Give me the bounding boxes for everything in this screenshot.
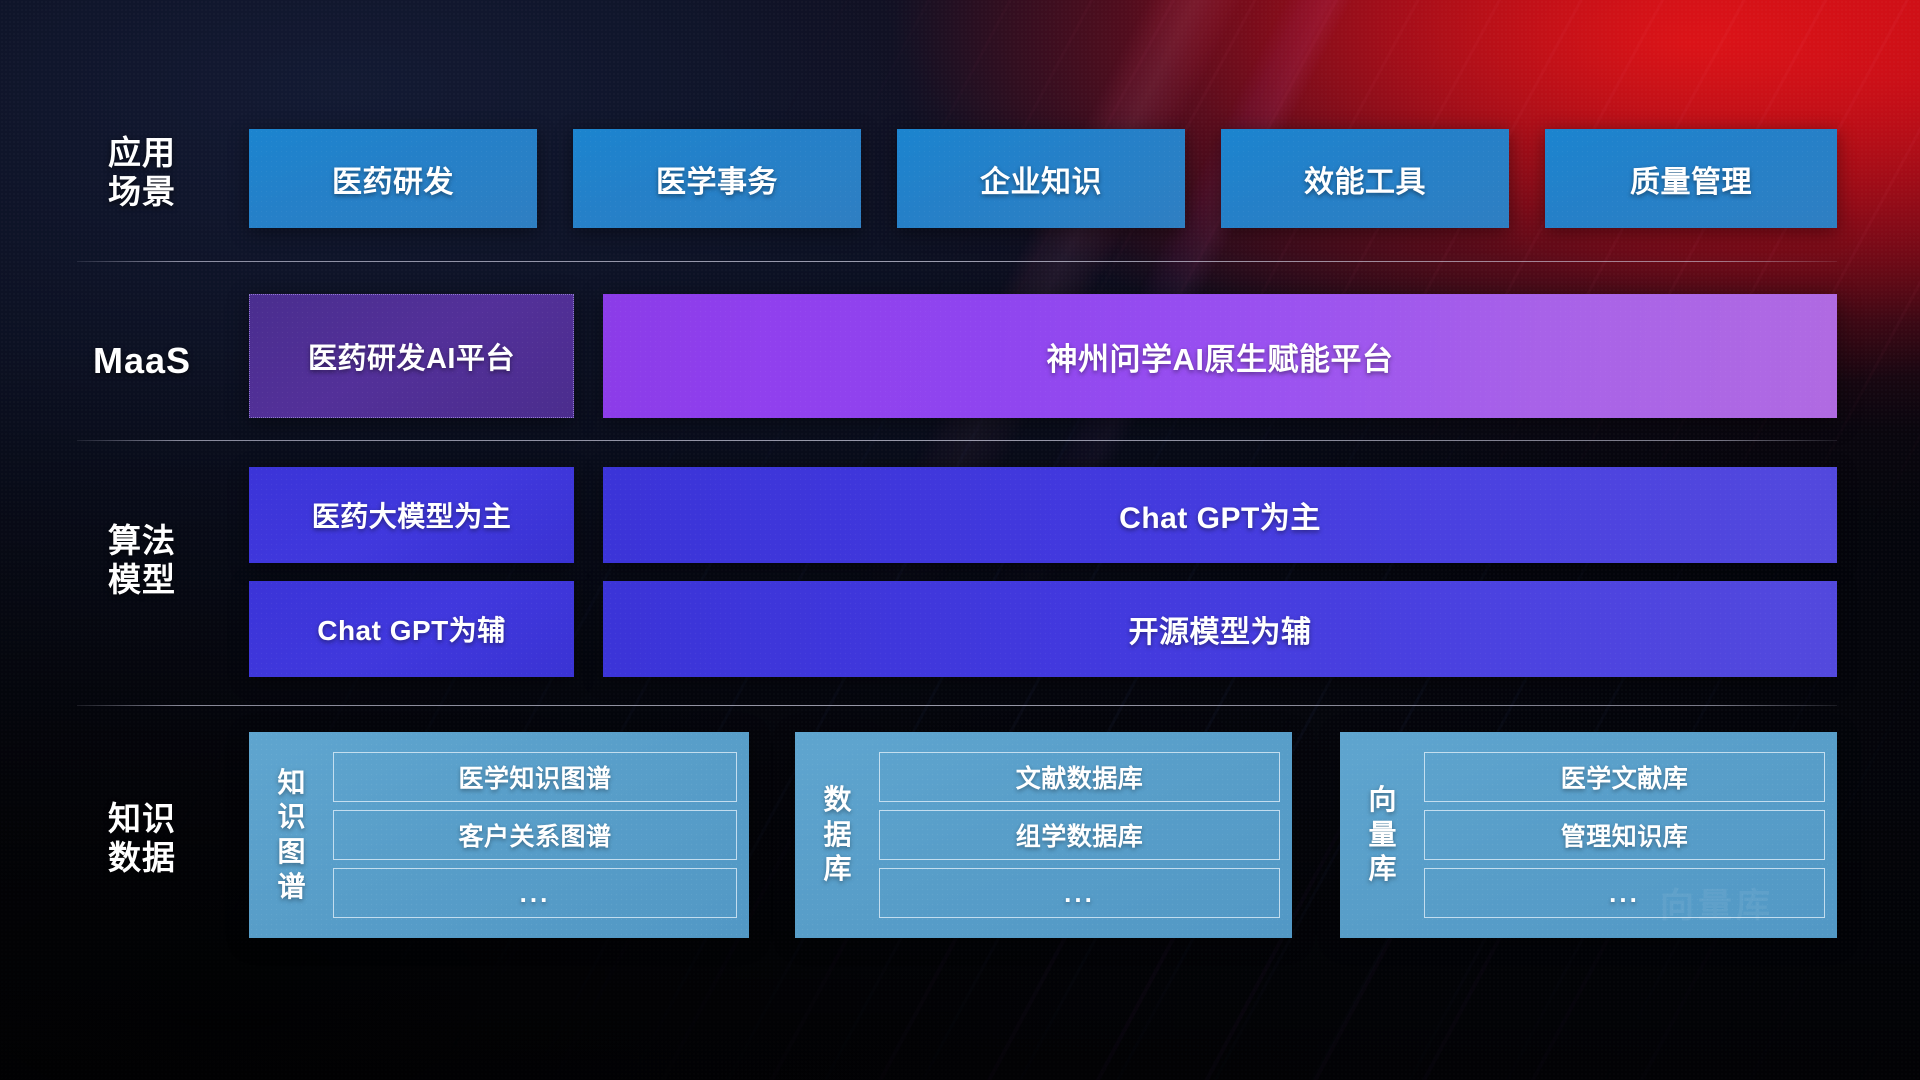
knowledge-item-graph-2-label: 客户关系图谱 <box>458 817 611 853</box>
algo-card-pharma-model-primary[interactable]: 医药大模型为主 <box>249 467 574 563</box>
knowledge-item-vector-2[interactable]: 管理知识库 <box>1424 810 1825 860</box>
algo-card-opensource-secondary[interactable]: 开源模型为辅 <box>603 581 1837 677</box>
app-card-4-label: 效能工具 <box>1304 157 1426 201</box>
knowledge-item-graph-2[interactable]: 客户关系图谱 <box>333 810 737 860</box>
algo-card-chatgpt-primary-label: Chat GPT为主 <box>1119 493 1321 537</box>
knowledge-item-vector-3[interactable]: ... <box>1424 868 1825 918</box>
row-label-knowledge: 知识 数据 <box>77 800 207 878</box>
knowledge-group-database-label: 数 据 库 <box>809 783 867 887</box>
knowledge-item-database-3-label: ... <box>1064 878 1095 909</box>
app-card-1[interactable]: 医药研发 <box>249 129 537 228</box>
knowledge-item-vector-3-label: ... <box>1609 878 1640 909</box>
app-card-2-label: 医学事务 <box>656 157 778 201</box>
knowledge-group-graph-items: 医学知识图谱 客户关系图谱 ... <box>333 752 737 918</box>
divider-algorithm-knowledge <box>77 705 1837 706</box>
app-card-1-label: 医药研发 <box>332 157 454 201</box>
maas-card-pharma-ai-platform-label: 医药研发AI平台 <box>308 335 515 377</box>
algo-card-pharma-model-primary-label: 医药大模型为主 <box>312 495 512 535</box>
knowledge-item-vector-1-label: 医学文献库 <box>1561 759 1689 795</box>
knowledge-item-database-2[interactable]: 组学数据库 <box>879 810 1280 860</box>
knowledge-item-database-1[interactable]: 文献数据库 <box>879 752 1280 802</box>
knowledge-item-graph-3[interactable]: ... <box>333 868 737 918</box>
knowledge-group-vector[interactable]: 向 量 库 医学文献库 管理知识库 ... <box>1340 732 1837 938</box>
app-card-5[interactable]: 质量管理 <box>1545 129 1837 228</box>
app-card-3[interactable]: 企业知识 <box>897 129 1185 228</box>
algo-card-chatgpt-secondary-label: Chat GPT为辅 <box>317 609 506 649</box>
knowledge-item-database-3[interactable]: ... <box>879 868 1280 918</box>
maas-card-shenzhou-platform-label: 神州问学AI原生赋能平台 <box>1047 334 1394 379</box>
knowledge-group-database[interactable]: 数 据 库 文献数据库 组学数据库 ... <box>795 732 1292 938</box>
knowledge-group-vector-label: 向 量 库 <box>1354 783 1412 887</box>
algo-card-chatgpt-secondary[interactable]: Chat GPT为辅 <box>249 581 574 677</box>
row-label-maas: MaaS <box>77 340 207 382</box>
row-label-algorithm: 算法 模型 <box>77 522 207 600</box>
algo-card-chatgpt-primary[interactable]: Chat GPT为主 <box>603 467 1837 563</box>
app-card-5-label: 质量管理 <box>1630 157 1752 201</box>
knowledge-item-vector-2-label: 管理知识库 <box>1561 817 1689 853</box>
knowledge-item-graph-3-label: ... <box>520 878 551 909</box>
knowledge-item-database-2-label: 组学数据库 <box>1016 817 1144 853</box>
row-label-application: 应用 场景 <box>77 134 207 212</box>
knowledge-item-graph-1[interactable]: 医学知识图谱 <box>333 752 737 802</box>
app-card-2[interactable]: 医学事务 <box>573 129 861 228</box>
knowledge-group-vector-items: 医学文献库 管理知识库 ... <box>1424 752 1825 918</box>
app-card-4[interactable]: 效能工具 <box>1221 129 1509 228</box>
algo-card-opensource-secondary-label: 开源模型为辅 <box>1129 607 1312 651</box>
diagram-canvas: 应用 场景 医药研发 医学事务 企业知识 效能工具 质量管理 MaaS 医药研发… <box>0 0 1920 1080</box>
divider-application-maas <box>77 261 1837 262</box>
knowledge-group-graph[interactable]: 知 识 图 谱 医学知识图谱 客户关系图谱 ... <box>249 732 749 938</box>
maas-card-pharma-ai-platform[interactable]: 医药研发AI平台 <box>249 294 574 418</box>
knowledge-group-graph-label: 知 识 图 谱 <box>263 766 321 905</box>
knowledge-group-database-items: 文献数据库 组学数据库 ... <box>879 752 1280 918</box>
app-card-3-label: 企业知识 <box>980 157 1102 201</box>
knowledge-item-vector-1[interactable]: 医学文献库 <box>1424 752 1825 802</box>
divider-maas-algorithm <box>77 440 1837 441</box>
maas-card-shenzhou-platform[interactable]: 神州问学AI原生赋能平台 <box>603 294 1837 418</box>
knowledge-item-database-1-label: 文献数据库 <box>1016 759 1144 795</box>
knowledge-item-graph-1-label: 医学知识图谱 <box>458 759 611 795</box>
